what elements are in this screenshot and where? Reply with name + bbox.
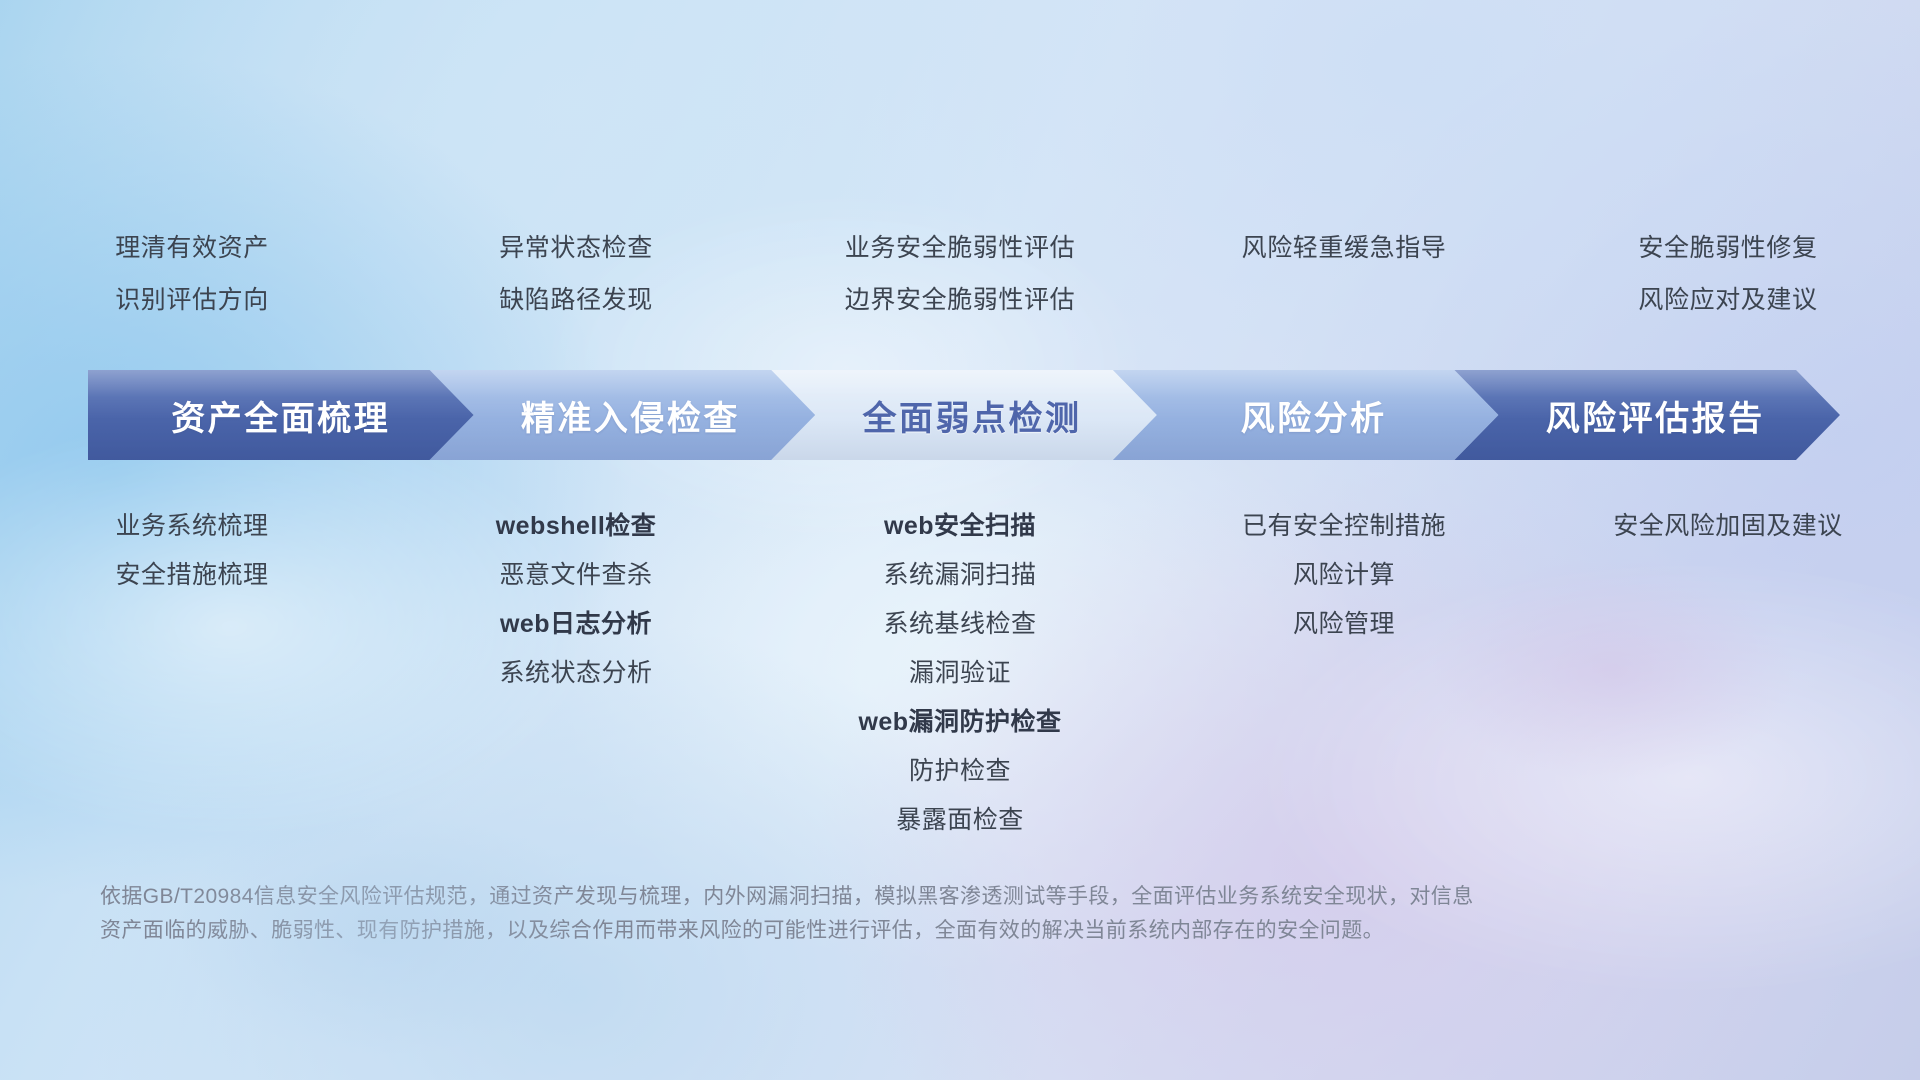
note-item: 边界安全脆弱性评估 xyxy=(768,288,1152,313)
top-notes-risk-report: 安全脆弱性修复风险应对及建议 xyxy=(1536,236,1920,356)
stage-label: 风险评估报告 xyxy=(1546,391,1765,440)
task-item: 系统漏洞扫描 xyxy=(768,563,1152,588)
task-list-risk-report: 安全风险加固及建议 xyxy=(1536,514,1920,563)
task-item: web安全扫描 xyxy=(768,514,1152,539)
footer-description: 依据GB/T20984信息安全风险评估规范，通过资产发现与梳理，内外网漏洞扫描，… xyxy=(100,880,1720,948)
stage-label: 精准入侵检查 xyxy=(521,391,740,440)
task-lists-row: 业务系统梳理安全措施梳理webshell检查恶意文件查杀web日志分析系统状态分… xyxy=(0,514,1920,874)
task-item: 漏洞验证 xyxy=(768,661,1152,686)
infographic-canvas: 理清有效资产识别评估方向异常状态检查缺陷路径发现业务安全脆弱性评估边界安全脆弱性… xyxy=(0,0,1920,1080)
task-item: 系统状态分析 xyxy=(384,661,768,686)
top-notes-asset-inventory: 理清有效资产识别评估方向 xyxy=(0,236,384,356)
task-item: 安全风险加固及建议 xyxy=(1536,514,1920,539)
stage-chevron-risk-report[interactable]: 风险评估报告 xyxy=(1454,370,1840,460)
note-item: 业务安全脆弱性评估 xyxy=(768,236,1152,261)
task-list-weakness-detection: web安全扫描系统漏洞扫描系统基线检查漏洞验证web漏洞防护检查防护检查暴露面检… xyxy=(768,514,1152,857)
task-item: 风险管理 xyxy=(1152,612,1536,637)
note-item: 理清有效资产 xyxy=(0,236,384,261)
task-item: 安全措施梳理 xyxy=(0,563,384,588)
task-item: webshell检查 xyxy=(384,514,768,539)
stage-chevron-weakness-detection[interactable]: 全面弱点检测 xyxy=(771,370,1157,460)
task-item: 防护检查 xyxy=(768,759,1152,784)
stage-label: 风险分析 xyxy=(1241,391,1387,440)
task-item: web日志分析 xyxy=(384,612,768,637)
task-item: 暴露面检查 xyxy=(768,808,1152,833)
footer-line-2: 资产面临的威胁、脆弱性、现有防护措施，以及综合作用而带来风险的可能性进行评估，全… xyxy=(100,914,1720,948)
note-item: 风险轻重缓急指导 xyxy=(1152,236,1536,261)
process-chevron-banner: 资产全面梳理精准入侵检查全面弱点检测风险分析风险评估报告 xyxy=(88,370,1840,460)
stage-label: 全面弱点检测 xyxy=(862,391,1081,440)
top-notes-intrusion-check: 异常状态检查缺陷路径发现 xyxy=(384,236,768,356)
note-item: 风险应对及建议 xyxy=(1536,288,1920,313)
stage-chevron-risk-analysis[interactable]: 风险分析 xyxy=(1113,370,1499,460)
task-item: 系统基线检查 xyxy=(768,612,1152,637)
stage-chevron-asset-inventory[interactable]: 资产全面梳理 xyxy=(88,370,474,460)
top-notes-row: 理清有效资产识别评估方向异常状态检查缺陷路径发现业务安全脆弱性评估边界安全脆弱性… xyxy=(0,236,1920,356)
footer-line-1: 依据GB/T20984信息安全风险评估规范，通过资产发现与梳理，内外网漏洞扫描，… xyxy=(100,880,1720,914)
task-item: 风险计算 xyxy=(1152,563,1536,588)
note-item: 安全脆弱性修复 xyxy=(1536,236,1920,261)
task-list-intrusion-check: webshell检查恶意文件查杀web日志分析系统状态分析 xyxy=(384,514,768,710)
stage-label: 资产全面梳理 xyxy=(171,391,390,440)
task-list-risk-analysis: 已有安全控制措施风险计算风险管理 xyxy=(1152,514,1536,661)
top-notes-risk-analysis: 风险轻重缓急指导 xyxy=(1152,236,1536,356)
note-item: 识别评估方向 xyxy=(0,288,384,313)
note-item: 异常状态检查 xyxy=(384,236,768,261)
task-item: 业务系统梳理 xyxy=(0,514,384,539)
task-item: web漏洞防护检查 xyxy=(768,710,1152,735)
task-item: 恶意文件查杀 xyxy=(384,563,768,588)
note-item: 缺陷路径发现 xyxy=(384,288,768,313)
top-notes-weakness-detection: 业务安全脆弱性评估边界安全脆弱性评估 xyxy=(768,236,1152,356)
task-item: 已有安全控制措施 xyxy=(1152,514,1536,539)
task-list-asset-inventory: 业务系统梳理安全措施梳理 xyxy=(0,514,384,612)
stage-chevron-intrusion-check[interactable]: 精准入侵检查 xyxy=(430,370,816,460)
